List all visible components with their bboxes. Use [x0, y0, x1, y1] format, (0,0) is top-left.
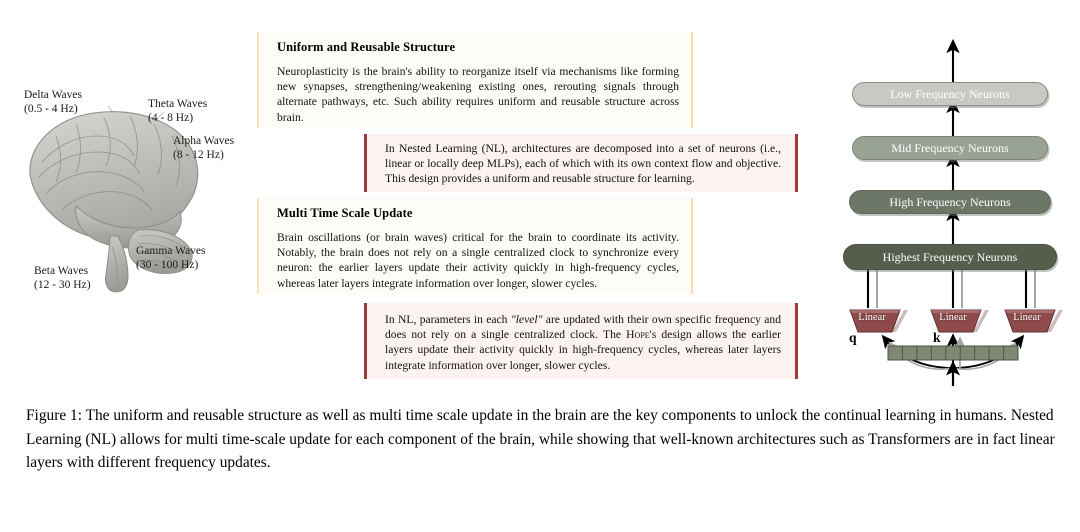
wave-name: Theta Waves [148, 97, 207, 111]
neuron-box-label: Highest Frequency Neurons [883, 250, 1018, 265]
block-body: Neuroplasticity is the brain's ability t… [277, 64, 679, 125]
text-block-nl-level-frequency: In NL, parameters in each "level" are up… [364, 303, 798, 379]
block-title: Multi Time Scale Update [277, 206, 679, 221]
wave-label-delta: Delta Waves (0.5 - 4 Hz) [24, 88, 82, 116]
token-sequence-bar [888, 346, 1018, 360]
wave-name: Beta Waves [34, 264, 91, 278]
neuron-box-label: Low Frequency Neurons [890, 87, 1009, 102]
wave-name: Gamma Waves [136, 244, 205, 258]
wave-range: (0.5 - 4 Hz) [24, 102, 82, 116]
linear-layer-label: Linear [844, 312, 900, 323]
neuron-box-highest-frequency[interactable]: Highest Frequency Neurons [843, 244, 1057, 270]
label-k: k [933, 330, 941, 346]
architecture-diagram: Low Frequency Neurons Mid Frequency Neur… [836, 38, 1070, 386]
figure-caption: Figure 1: The uniform and reusable struc… [26, 404, 1055, 475]
neuron-box-label: High Frequency Neurons [889, 195, 1010, 210]
figure-1-container: Delta Waves (0.5 - 4 Hz) Theta Waves (4 … [0, 0, 1080, 532]
wave-label-theta: Theta Waves (4 - 8 Hz) [148, 97, 207, 125]
text-block-nl-uniform-structure: In Nested Learning (NL), architectures a… [364, 134, 798, 192]
block-title: Uniform and Reusable Structure [277, 40, 679, 55]
neuron-box-label: Mid Frequency Neurons [891, 141, 1008, 156]
neuron-box-low-frequency[interactable]: Low Frequency Neurons [852, 82, 1048, 106]
block-body: Brain oscillations (or brain waves) crit… [277, 230, 679, 291]
wave-name: Delta Waves [24, 88, 82, 102]
wave-range: (12 - 30 Hz) [34, 278, 91, 292]
linear-layer-label: Linear [925, 312, 981, 323]
text-block-uniform-reusable-structure: Uniform and Reusable Structure Neuroplas… [257, 32, 693, 128]
wave-range: (30 - 100 Hz) [136, 258, 205, 272]
wave-label-alpha: Alpha Waves (8 - 12 Hz) [173, 134, 234, 162]
label-v: v [1014, 334, 1021, 350]
figure-caption-label: Figure 1: [26, 407, 86, 424]
wave-range: (4 - 8 Hz) [148, 111, 207, 125]
neuron-box-high-frequency[interactable]: High Frequency Neurons [849, 190, 1051, 214]
wave-label-beta: Beta Waves (12 - 30 Hz) [34, 264, 91, 292]
linear-layer-q[interactable]: Linear [844, 308, 900, 332]
linear-layer-label: Linear [999, 312, 1055, 323]
text-block-multi-time-scale-update: Multi Time Scale Update Brain oscillatio… [257, 198, 693, 294]
wave-name: Alpha Waves [173, 134, 234, 148]
brain-illustration-panel: Delta Waves (0.5 - 4 Hz) Theta Waves (4 … [12, 78, 258, 308]
wave-range: (8 - 12 Hz) [173, 148, 234, 162]
linear-layer-v[interactable]: Linear [999, 308, 1055, 332]
block-body: In NL, parameters in each "level" are up… [385, 312, 781, 373]
neuron-box-mid-frequency[interactable]: Mid Frequency Neurons [852, 136, 1048, 160]
wave-label-gamma: Gamma Waves (30 - 100 Hz) [136, 244, 205, 272]
block-body: In Nested Learning (NL), architectures a… [385, 141, 781, 187]
figure-caption-text: The uniform and reusable structure as we… [26, 407, 1055, 471]
label-q: q [849, 330, 857, 346]
linear-layer-k[interactable]: Linear [925, 308, 981, 332]
